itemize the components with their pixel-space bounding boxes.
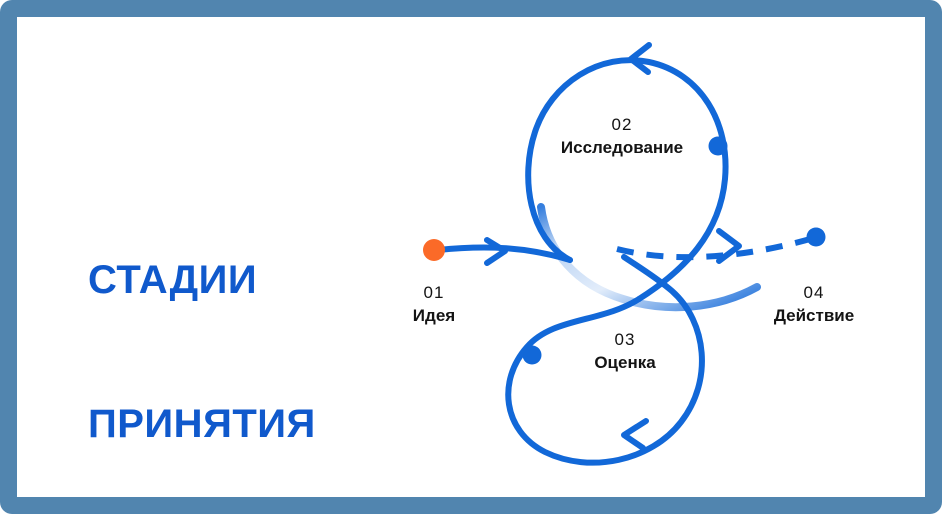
node-dot-blue-step-03	[523, 346, 542, 365]
node-dot-blue-step-02	[709, 137, 728, 156]
step-label-02: 02 Исследование	[561, 114, 683, 160]
step-name-04: Действие	[774, 304, 854, 328]
step-label-03: 03 Оценка	[594, 329, 655, 375]
start-dot-orange-step-01	[423, 239, 445, 261]
step-number-04: 04	[774, 282, 854, 304]
slide-canvas: СТАДИИ ПРИНЯТИЯ РЕШЕНИЯ	[17, 17, 925, 497]
step-name-01: Идея	[413, 304, 455, 328]
exit-line-dashed	[617, 238, 814, 257]
step-name-03: Оценка	[594, 351, 655, 375]
upper-loop	[528, 60, 725, 299]
step-label-04: 04 Действие	[774, 282, 854, 328]
process-flow-diagram	[17, 17, 925, 497]
step-number-01: 01	[413, 282, 455, 304]
step-name-02: Исследование	[561, 136, 683, 160]
arrowhead-entry-right	[487, 240, 505, 263]
end-dot-blue-step-04	[807, 228, 826, 247]
slide-frame: СТАДИИ ПРИНЯТИЯ РЕШЕНИЯ	[0, 0, 942, 514]
step-label-01: 01 Идея	[413, 282, 455, 328]
step-number-03: 03	[594, 329, 655, 351]
arrowhead-exit-right	[719, 231, 739, 261]
step-number-02: 02	[561, 114, 683, 136]
arrowhead-lower-loop-left	[624, 421, 646, 448]
